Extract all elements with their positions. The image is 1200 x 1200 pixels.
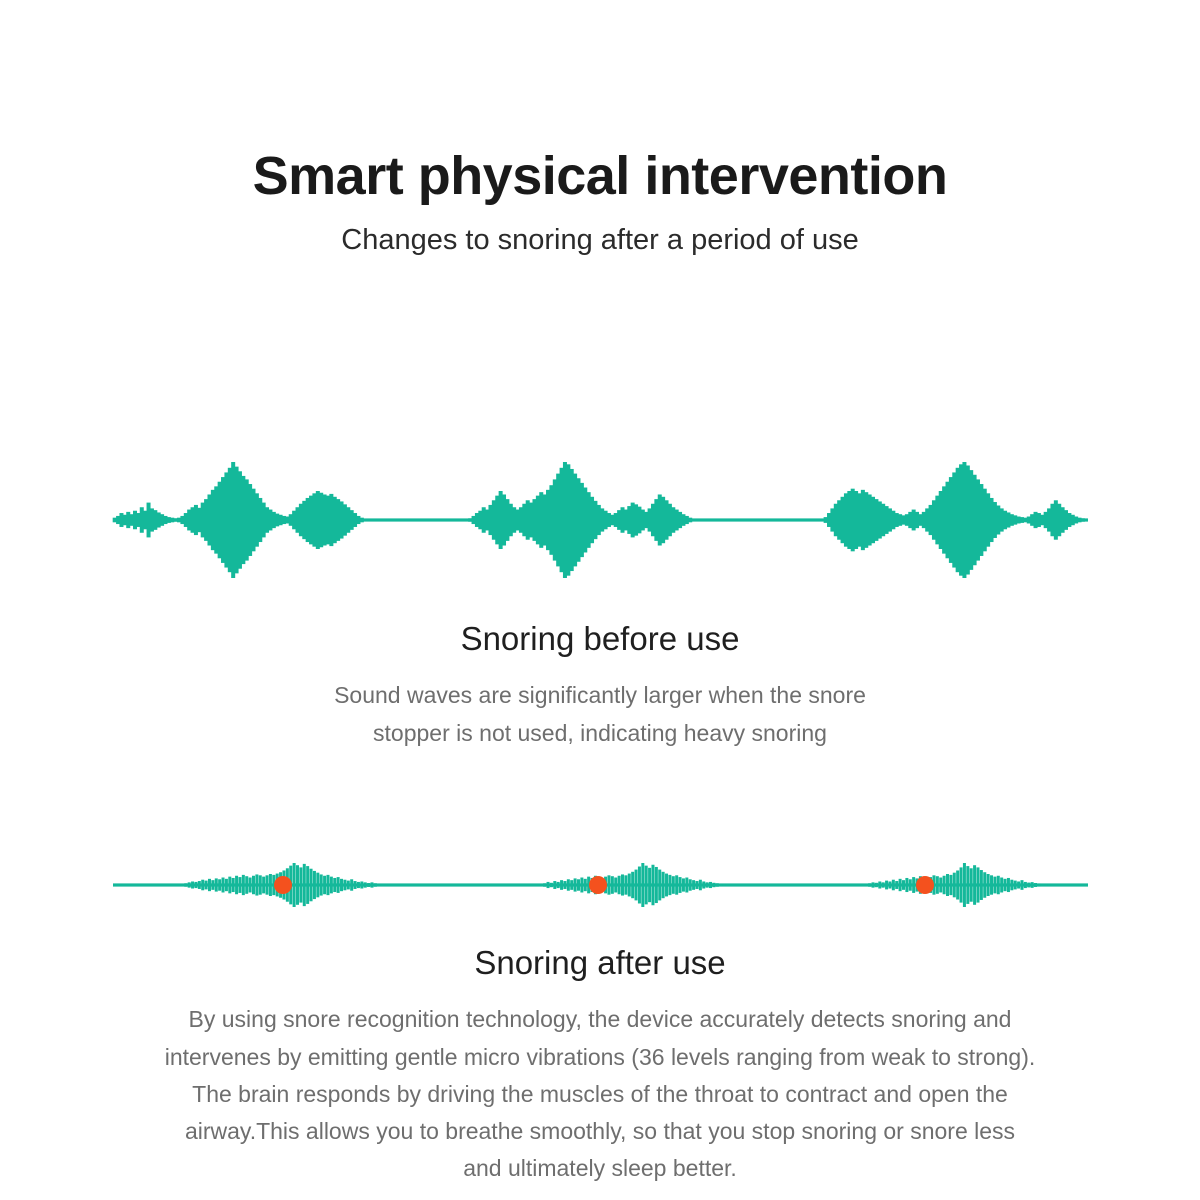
- waveform-bar: [293, 863, 296, 907]
- waveform-bar: [377, 884, 380, 887]
- waveform-bar: [1010, 880, 1013, 891]
- waveform-bar: [259, 875, 262, 894]
- caption-line: By using snore recognition technology, t…: [70, 1001, 1130, 1038]
- waveform-bar: [225, 879, 228, 891]
- waveform-bar: [188, 882, 191, 887]
- page-subtitle: Changes to snoring after a period of use: [0, 223, 1200, 258]
- snore-detection-marker-icon: [274, 876, 292, 894]
- waveform-bar: [269, 874, 272, 896]
- waveform-bar: [611, 876, 614, 894]
- waveform-bar: [875, 883, 878, 887]
- waveform-bar: [638, 867, 641, 904]
- waveform-bar: [865, 884, 868, 886]
- waveform-before-use: [0, 440, 1200, 600]
- waveform-bar: [706, 882, 709, 887]
- waveform-bar: [340, 879, 343, 891]
- waveform-bar: [310, 869, 313, 902]
- waveform-after-use-chart: [0, 845, 1200, 925]
- waveform-bar: [360, 518, 364, 523]
- waveform-bar: [723, 884, 726, 886]
- waveform-bar: [367, 883, 370, 887]
- waveform-bar: [201, 880, 204, 891]
- caption-line: airway.This allows you to breathe smooth…: [70, 1113, 1130, 1150]
- waveform-bar: [303, 864, 306, 906]
- waveform-bar: [872, 882, 875, 887]
- waveform-bar: [296, 865, 299, 905]
- waveform-bar: [980, 870, 983, 900]
- waveform-bar: [1031, 882, 1034, 888]
- waveform-bar: [580, 878, 583, 893]
- waveform-bar: [235, 876, 238, 894]
- caption-line: and ultimately sleep better.: [70, 1150, 1130, 1187]
- waveform-bar: [614, 878, 617, 893]
- page-root: Smart physical intervention Changes to s…: [0, 0, 1200, 1200]
- waveform-bar: [899, 879, 902, 891]
- waveform-bar: [553, 881, 556, 889]
- waveform-bar: [547, 882, 550, 888]
- header: Smart physical intervention Changes to s…: [0, 148, 1200, 257]
- waveform-bar: [249, 878, 252, 893]
- snore-detection-marker-icon: [589, 876, 607, 894]
- waveform-bar: [665, 874, 668, 897]
- waveform-bar: [987, 874, 990, 896]
- waveform-bar: [675, 875, 678, 894]
- waveform-bar: [347, 881, 350, 890]
- waveform-bar: [882, 882, 885, 887]
- waveform-bar: [909, 879, 912, 890]
- waveform-bar: [242, 875, 245, 895]
- waveform-bar: [194, 882, 197, 888]
- waveform-bar: [672, 876, 675, 894]
- waveform-bar: [628, 874, 631, 897]
- waveform-bar: [963, 863, 966, 907]
- waveform-before-use-chart: [0, 440, 1200, 600]
- waveform-bar: [943, 876, 946, 894]
- waveform-bar: [262, 877, 265, 894]
- waveform-bar: [215, 878, 218, 891]
- waveform-bar: [1081, 518, 1085, 521]
- waveform-bar: [584, 879, 587, 891]
- waveform-after-use: [0, 845, 1200, 925]
- waveform-bar: [878, 881, 881, 888]
- caption-before-use: Snoring before use Sound waves are signi…: [0, 618, 1200, 752]
- waveform-bar: [895, 881, 898, 889]
- waveform-bar: [299, 867, 302, 902]
- caption-line: stopper is not used, indicating heavy sn…: [250, 715, 950, 752]
- waveform-bar: [567, 879, 570, 890]
- waveform-bar: [333, 878, 336, 892]
- waveform-bar: [1014, 881, 1017, 890]
- waveform-bar: [949, 875, 952, 895]
- caption-body-after: By using snore recognition technology, t…: [70, 1001, 1130, 1187]
- waveform-bar: [682, 878, 685, 891]
- waveform-bar: [729, 884, 732, 885]
- waveform-bar: [381, 884, 384, 886]
- waveform-bar: [543, 883, 546, 887]
- waveform-bar: [624, 875, 627, 894]
- waveform-bar: [912, 877, 915, 893]
- waveform-bar: [1034, 883, 1037, 887]
- waveform-bar: [607, 875, 610, 894]
- caption-after-use: Snoring after use By using snore recogni…: [0, 942, 1200, 1188]
- caption-heading-after: Snoring after use: [0, 942, 1200, 983]
- waveform-bar: [540, 884, 543, 886]
- waveform-bar: [570, 880, 573, 890]
- snore-detection-marker-icon: [916, 876, 934, 894]
- waveform-bar: [885, 881, 888, 890]
- waveform-bar: [1044, 884, 1047, 886]
- waveform-bar: [726, 884, 729, 886]
- waveform-bar: [252, 876, 255, 894]
- waveform-bar: [970, 868, 973, 901]
- waveform-bar: [699, 880, 702, 891]
- waveform-bar: [330, 877, 333, 894]
- waveform-bar: [228, 877, 231, 894]
- waveform-bar: [956, 870, 959, 899]
- waveform-bar: [635, 870, 638, 901]
- waveform-bar: [323, 876, 326, 894]
- waveform-bar: [255, 874, 258, 895]
- caption-heading-before: Snoring before use: [0, 618, 1200, 659]
- waveform-bar: [892, 880, 895, 891]
- waveform-bar: [936, 876, 939, 894]
- waveform-bar: [218, 879, 221, 890]
- waveform-bar: [357, 882, 360, 888]
- waveform-bar: [658, 870, 661, 901]
- caption-line: Sound waves are significantly larger whe…: [250, 677, 950, 714]
- waveform-bar: [662, 872, 665, 898]
- waveform-bar: [232, 878, 235, 892]
- waveform-bar: [1041, 884, 1044, 886]
- waveform-bar: [719, 884, 722, 887]
- caption-body-before: Sound waves are significantly larger whe…: [250, 677, 950, 752]
- waveform-bar: [1000, 878, 1003, 893]
- waveform-bar: [198, 881, 201, 889]
- waveform-bar: [1037, 883, 1040, 886]
- waveform-bar: [563, 881, 566, 889]
- waveform-bar: [222, 878, 225, 893]
- waveform-bar: [946, 874, 949, 896]
- waveform-bar: [316, 873, 319, 898]
- caption-line: The brain responds by driving the muscle…: [70, 1076, 1130, 1113]
- waveform-bar: [238, 877, 241, 893]
- waveform-bar: [343, 880, 346, 891]
- waveform-bar: [384, 884, 387, 886]
- waveform-bar: [370, 882, 373, 887]
- waveform-bar: [326, 875, 329, 895]
- waveform-bar: [905, 878, 908, 892]
- waveform-bar: [387, 884, 390, 885]
- waveform-bar: [205, 881, 208, 890]
- waveform-bar: [618, 876, 621, 894]
- waveform-bar: [685, 878, 688, 893]
- waveform-bar: [313, 871, 316, 899]
- waveform-bar: [1027, 883, 1030, 888]
- waveform-bar: [888, 881, 891, 888]
- waveform-bar: [645, 866, 648, 905]
- waveform-bar: [374, 883, 377, 887]
- waveform-bar: [939, 878, 942, 893]
- waveform-bar: [716, 883, 719, 887]
- waveform-bar: [245, 876, 248, 894]
- waveform-bar: [695, 881, 698, 889]
- waveform-bar: [557, 882, 560, 888]
- waveform-bar: [668, 875, 671, 895]
- waveform-bar: [688, 518, 692, 523]
- waveform-bar: [648, 868, 651, 902]
- waveform-bar: [973, 865, 976, 905]
- waveform-bar: [306, 866, 309, 904]
- waveform-bar: [712, 883, 715, 887]
- waveform-bar: [679, 877, 682, 893]
- waveform-bars: [113, 462, 1085, 578]
- waveform-bar: [550, 883, 553, 887]
- waveform-bar: [560, 880, 563, 890]
- waveform-bar: [360, 881, 363, 888]
- waveform-bar: [1020, 880, 1023, 890]
- waveform-bar: [1048, 884, 1051, 885]
- waveform-bar: [692, 880, 695, 890]
- waveform-bar: [983, 872, 986, 898]
- waveform-bar: [364, 882, 367, 887]
- waveform-bar: [1024, 882, 1027, 888]
- waveform-bar: [689, 879, 692, 890]
- waveform-bar: [191, 881, 194, 888]
- waveform-bar: [211, 880, 214, 890]
- waveform-bar: [577, 879, 580, 890]
- waveform-bar: [1017, 881, 1020, 888]
- waveform-bar: [702, 881, 705, 888]
- waveform-bar: [655, 867, 658, 903]
- waveform-bar: [621, 874, 624, 895]
- waveform-bar: [997, 876, 1000, 894]
- waveform-bar: [354, 881, 357, 889]
- waveform-bar: [184, 883, 187, 887]
- waveform-bar: [337, 877, 340, 893]
- waveform-bar: [993, 877, 996, 894]
- waveform-bar: [320, 874, 323, 895]
- waveform-bar: [902, 880, 905, 890]
- waveform-bar: [966, 866, 969, 904]
- waveform-bar: [709, 882, 712, 888]
- waveform-bar: [990, 875, 993, 894]
- page-title: Smart physical intervention: [0, 148, 1200, 205]
- waveform-bar: [208, 879, 211, 891]
- waveform-bar: [641, 863, 644, 907]
- waveform-bar: [1007, 878, 1010, 892]
- waveform-bar: [651, 865, 654, 905]
- waveform-bar: [350, 879, 353, 890]
- waveform-bar: [574, 878, 577, 891]
- waveform-bar: [631, 872, 634, 898]
- waveform-bar: [953, 873, 956, 898]
- waveform-bar: [976, 867, 979, 902]
- waveform-bar: [266, 875, 269, 894]
- waveform-bar: [868, 883, 871, 887]
- waveform-bar: [181, 884, 184, 886]
- waveform-bar: [1004, 879, 1007, 891]
- caption-line: intervenes by emitting gentle micro vibr…: [70, 1039, 1130, 1076]
- waveform-bar: [960, 867, 963, 902]
